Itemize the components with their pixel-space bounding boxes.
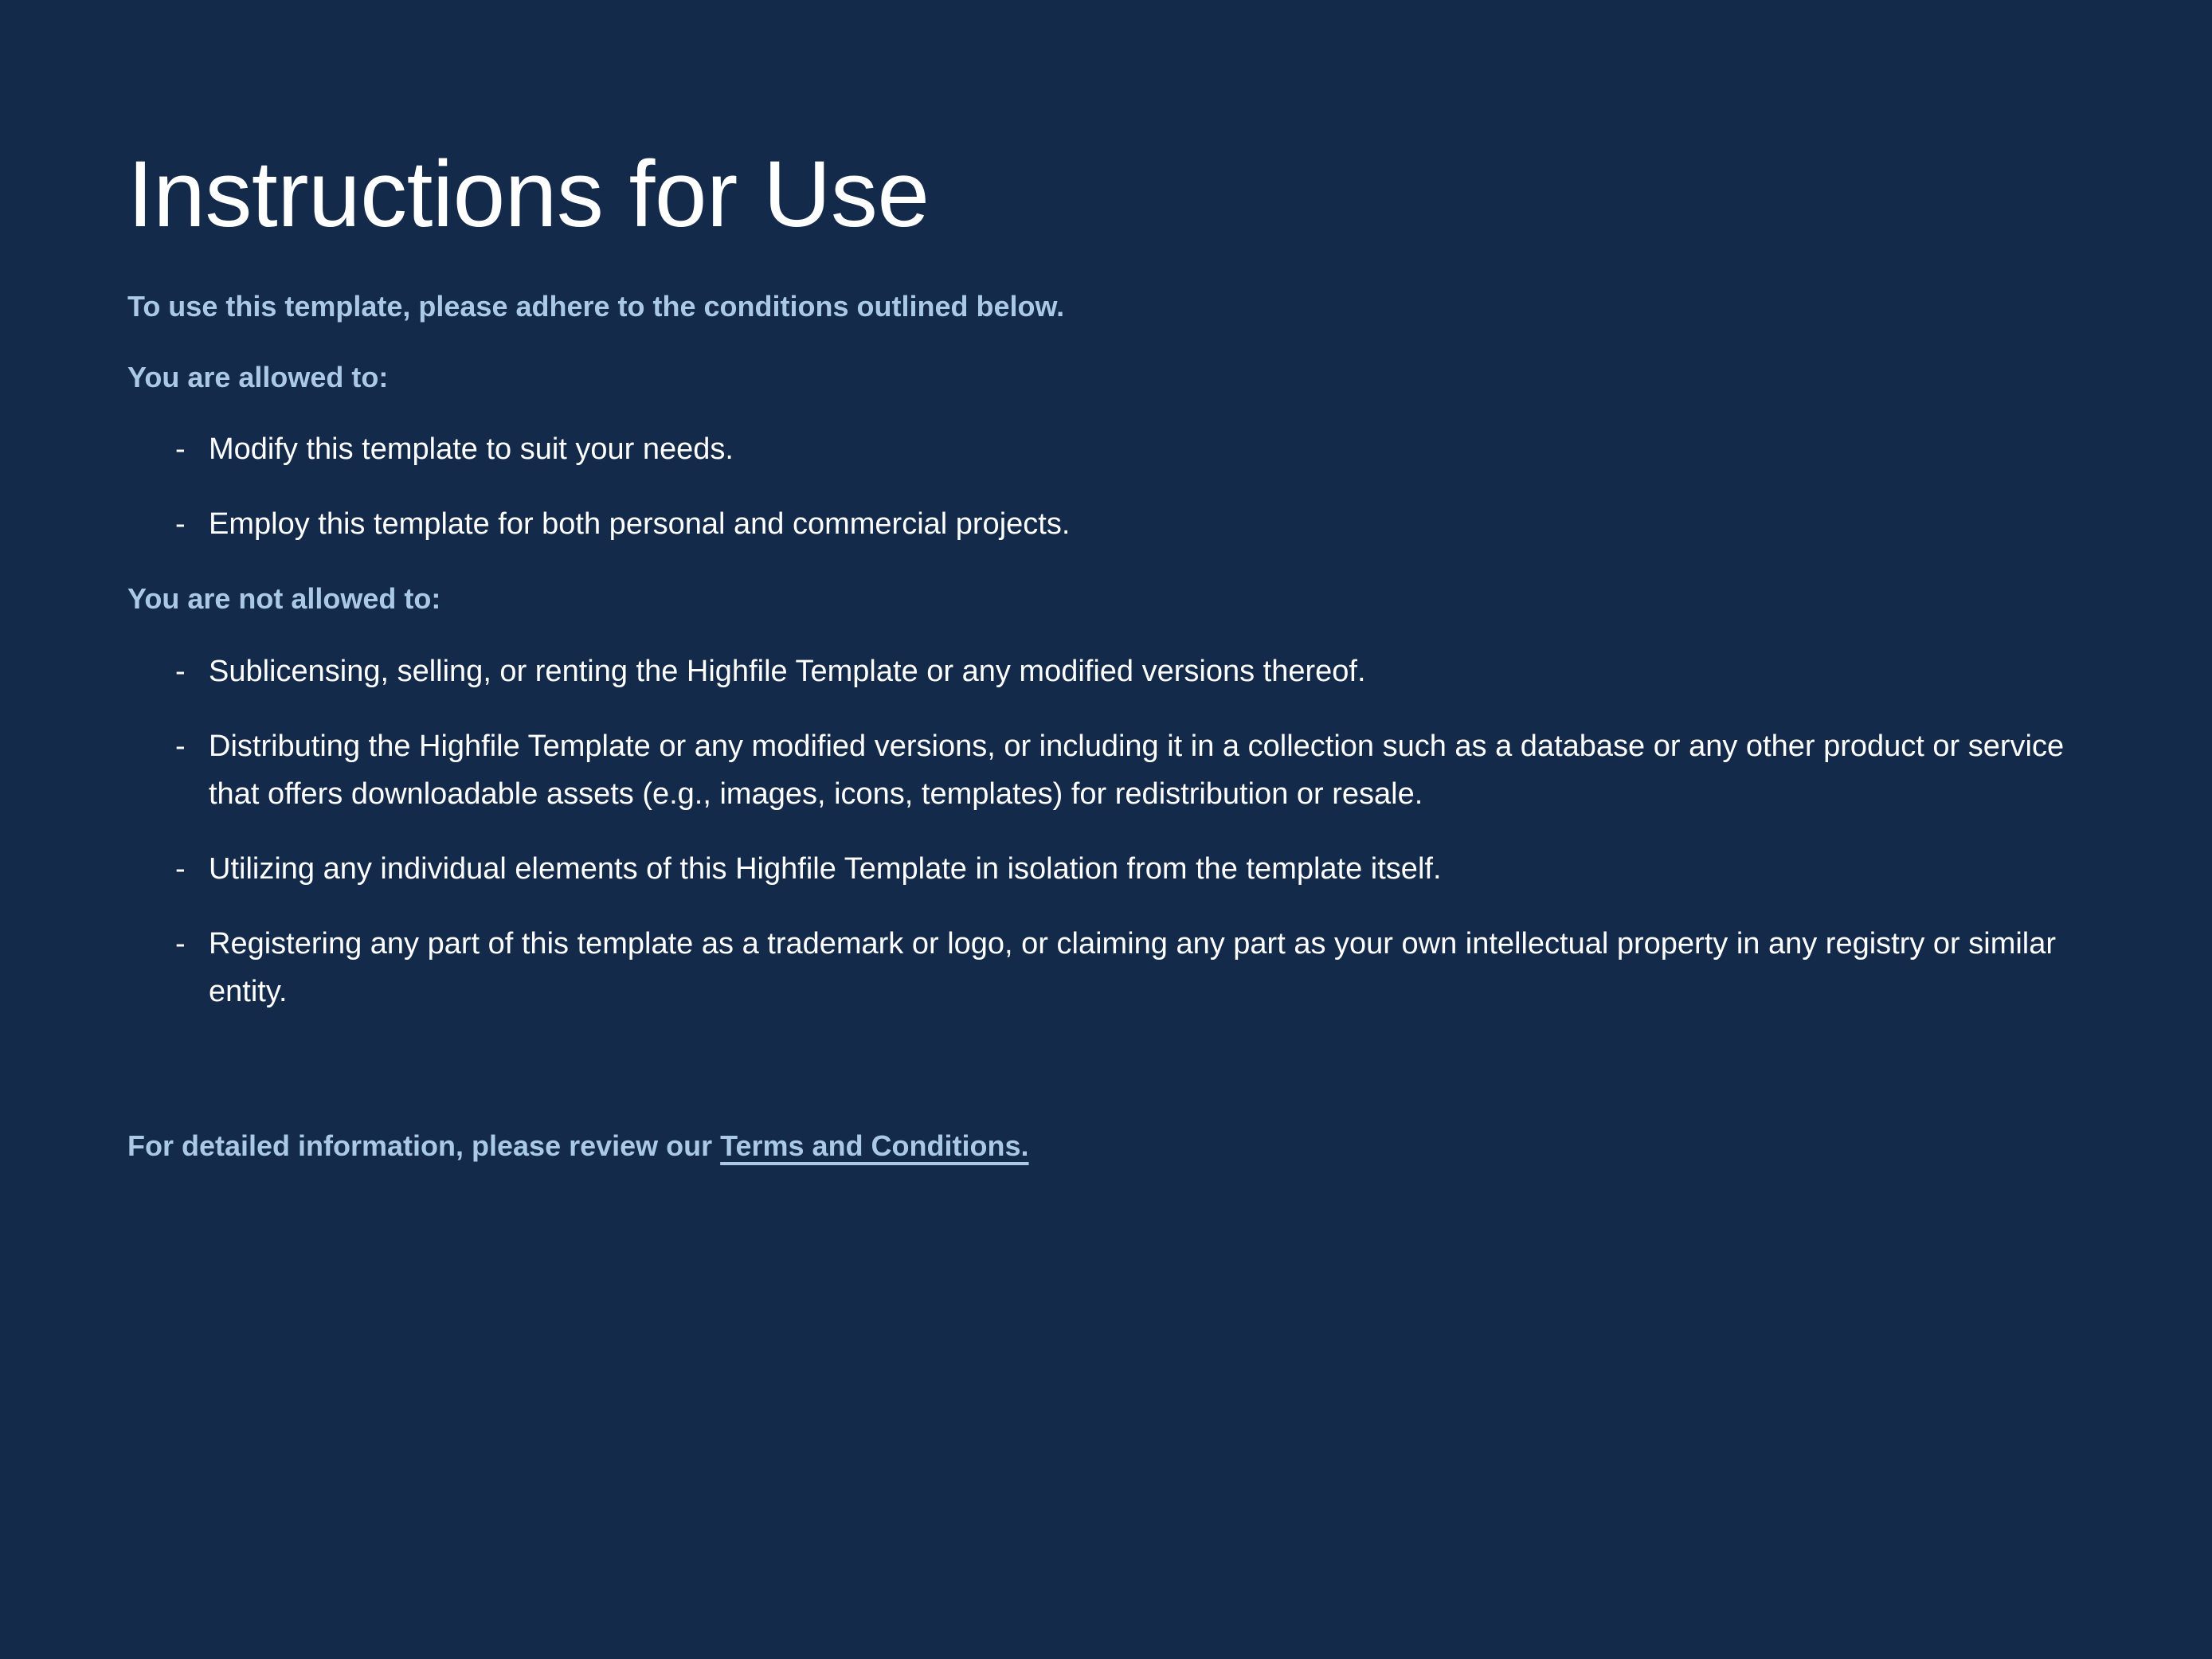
- list-item-text: Registering any part of this template as…: [209, 920, 2087, 1015]
- dash-bullet-icon: -: [175, 500, 186, 548]
- slide-content: Instructions for Use To use this templat…: [127, 0, 2087, 1166]
- lead-paragraph: To use this template, please adhere to t…: [127, 241, 2087, 327]
- dash-bullet-icon: -: [175, 722, 186, 770]
- list-item: - Modify this template to suit your need…: [127, 425, 2087, 473]
- dash-bullet-icon: -: [175, 920, 186, 968]
- list-item: - Registering any part of this template …: [127, 920, 2087, 1015]
- list-item-text: Modify this template to suit your needs.: [209, 425, 2087, 473]
- list-item: - Employ this template for both personal…: [127, 500, 2087, 548]
- dash-bullet-icon: -: [175, 648, 186, 695]
- instructions-slide: Instructions for Use To use this templat…: [0, 0, 2212, 1659]
- list-item-text: Distributing the Highfile Template or an…: [209, 722, 2087, 818]
- list-item-text: Sublicensing, selling, or renting the Hi…: [209, 648, 2087, 695]
- section-heading-not-allowed: You are not allowed to:: [127, 548, 2087, 619]
- list-item: - Utilizing any individual elements of t…: [127, 845, 2087, 893]
- footer-note-text: For detailed information, please review …: [127, 1129, 720, 1162]
- allowed-list: - Modify this template to suit your need…: [127, 425, 2087, 548]
- section-heading-allowed: You are allowed to:: [127, 327, 2087, 397]
- list-item-text: Employ this template for both personal a…: [209, 500, 2087, 548]
- dash-bullet-icon: -: [175, 845, 186, 893]
- terms-and-conditions-link[interactable]: Terms and Conditions.: [720, 1129, 1028, 1162]
- footer-note: For detailed information, please review …: [127, 1015, 2087, 1166]
- list-item: - Sublicensing, selling, or renting the …: [127, 648, 2087, 695]
- page-title: Instructions for Use: [127, 0, 2087, 241]
- not-allowed-list: - Sublicensing, selling, or renting the …: [127, 648, 2087, 1015]
- list-item-text: Utilizing any individual elements of thi…: [209, 845, 2087, 893]
- list-item: - Distributing the Highfile Template or …: [127, 722, 2087, 818]
- dash-bullet-icon: -: [175, 425, 186, 473]
